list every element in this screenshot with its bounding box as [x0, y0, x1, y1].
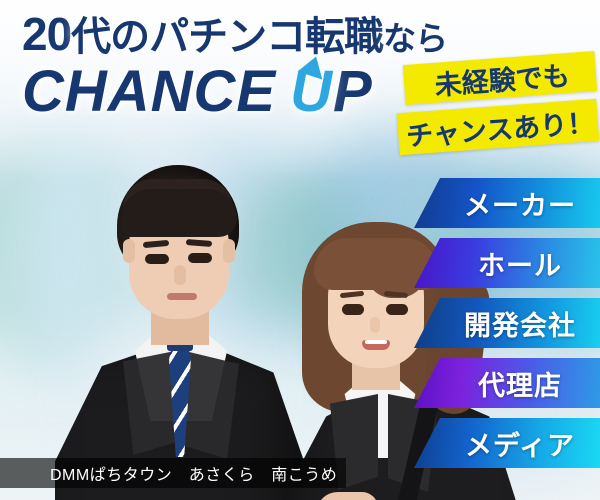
advertisement-banner[interactable]: 20代のパチンコ転職なら CHANCEUP 未経験でも チャンスあり！ メーカー… — [0, 0, 600, 500]
headline-line-1: 20代のパチンコ転職なら — [22, 10, 447, 60]
male-fringe — [121, 189, 237, 237]
nav-item-agency-label: 代理店 — [478, 364, 562, 403]
headline-up-u-letter: U — [290, 62, 333, 121]
credit-text: DMMぱちタウン あさくら 南こうめ — [0, 461, 337, 485]
credit-bar: DMMぱちタウン あさくら 南こうめ — [0, 458, 346, 488]
male-ear-right — [223, 239, 235, 263]
nav-item-agency[interactable]: 代理店 — [414, 358, 600, 408]
male-ear-left — [123, 239, 135, 263]
nav-item-hall-label: ホール — [478, 244, 562, 283]
headline-age-number: 20 — [22, 8, 71, 60]
headline-up-p-letter: P — [333, 59, 373, 124]
nav-item-hall[interactable]: ホール — [414, 238, 600, 288]
nav-item-development-company-label: 開発会社 — [464, 304, 576, 343]
male-model — [55, 165, 315, 500]
headline-line-1-suffix: なら — [383, 20, 447, 57]
male-eye-right — [188, 253, 212, 263]
male-nose — [174, 265, 186, 285]
category-nav-list: メーカー ホール 開発会社 代理店 メディア — [414, 178, 600, 478]
headline-block: 20代のパチンコ転職なら CHANCEUP — [22, 10, 447, 121]
headline-line-2: CHANCEUP — [22, 62, 447, 121]
female-eye-right — [386, 304, 408, 315]
female-nose — [370, 317, 380, 333]
nav-item-maker[interactable]: メーカー — [414, 178, 600, 228]
female-eye-left — [342, 304, 364, 315]
male-mouth — [167, 293, 197, 300]
nav-item-development-company[interactable]: 開発会社 — [414, 298, 600, 348]
nav-item-maker-label: メーカー — [464, 184, 576, 223]
headline-line-1-main: 代のパチンコ転職 — [71, 15, 383, 59]
male-eye-left — [145, 254, 169, 264]
headline-chance-word: CHANCE — [22, 59, 276, 124]
nav-item-media-label: メディア — [465, 424, 575, 463]
female-mouth — [362, 340, 390, 350]
nav-item-media[interactable]: メディア — [414, 418, 600, 468]
